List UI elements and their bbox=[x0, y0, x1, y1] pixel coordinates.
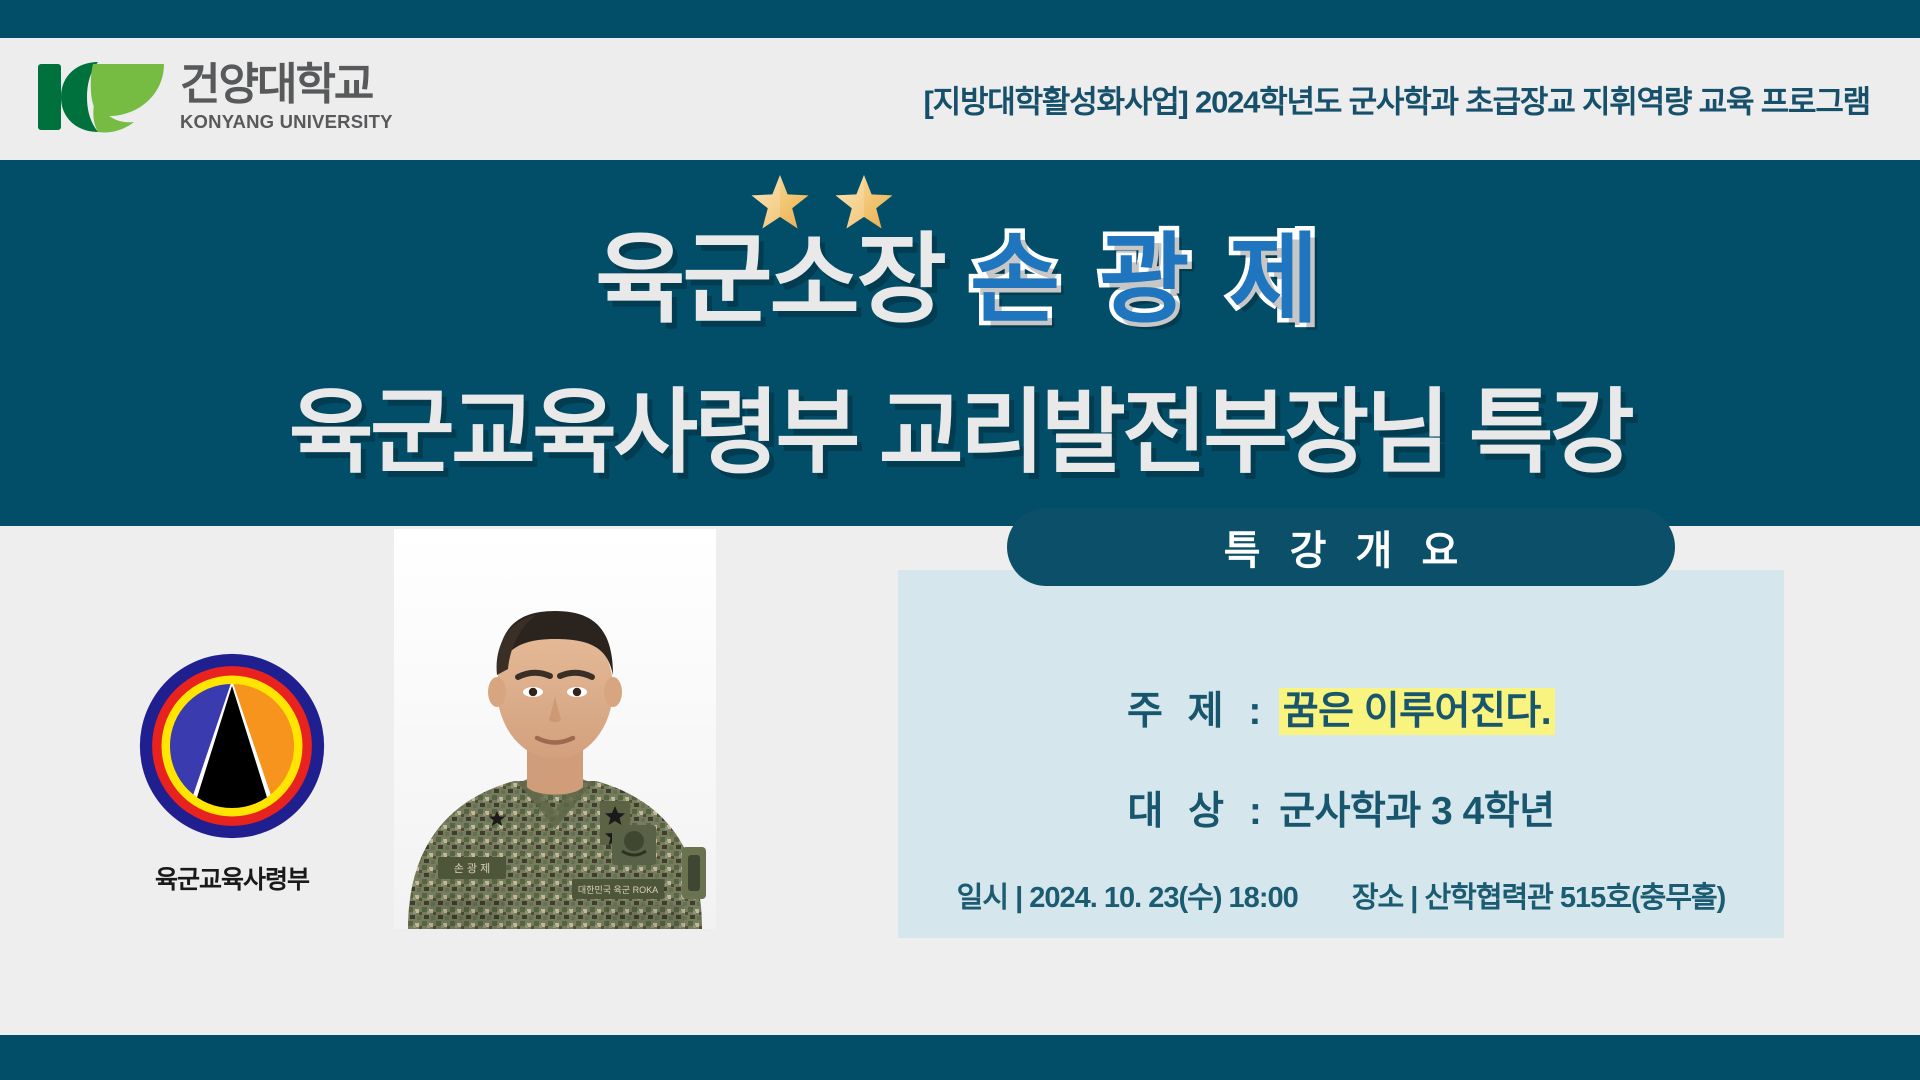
svg-text:손 광 제: 손 광 제 bbox=[454, 862, 490, 875]
info-value-audience: 군사학과 3 4학년 bbox=[1279, 790, 1554, 833]
logo-english-name: KONYANG UNIVERSITY bbox=[180, 113, 393, 132]
date-label: 일시 | bbox=[957, 882, 1023, 914]
poster-header: 건양대학교 KONYANG UNIVERSITY [지방대학활성화사업] 202… bbox=[0, 38, 1920, 160]
banner-title-line-1: 육군소장손 광 제 bbox=[0, 222, 1920, 338]
speaker-rank: 육군소장 bbox=[595, 224, 944, 334]
lecture-overview-label: 특 강 개 요 bbox=[1215, 518, 1468, 576]
poster-body: 육군교육사령부 bbox=[0, 526, 1920, 1035]
info-label-audience: 대 상 : bbox=[1127, 790, 1268, 833]
info-row-audience: 대 상 : 군사학과 3 4학년 bbox=[898, 780, 1784, 836]
army-training-command-emblem bbox=[138, 652, 326, 840]
main-banner: 육군소장손 광 제 육군교육사령부 교리발전부장님 특강 bbox=[0, 160, 1920, 526]
lecture-info-rows: 주 제 : 꿈은 이루어진다. 대 상 : 군사학과 3 4학년 bbox=[898, 680, 1784, 836]
svg-text:대한민국 육군 ROKA: 대한민국 육군 ROKA bbox=[578, 885, 658, 895]
program-title: [지방대학활성화사업] 2024학년도 군사학과 초급장교 지휘역량 교육 프로… bbox=[924, 77, 1870, 122]
info-label-topic: 주 제 : bbox=[1127, 690, 1268, 733]
top-accent-bar bbox=[0, 0, 1920, 38]
logo-korean-name: 건양대학교 bbox=[180, 63, 393, 107]
info-row-topic: 주 제 : 꿈은 이루어진다. bbox=[898, 680, 1784, 736]
poster-root: 건양대학교 KONYANG UNIVERSITY [지방대학활성화사업] 202… bbox=[0, 0, 1920, 1080]
date-value: 2024. 10. 23(수) 18:00 bbox=[1029, 882, 1297, 914]
info-value-topic: 꿈은 이루어진다. bbox=[1279, 688, 1555, 735]
place-label: 장소 | bbox=[1352, 882, 1418, 914]
speaker-name: 손 광 제 bbox=[970, 224, 1325, 334]
lecture-schedule-footer: 일시 | 2024. 10. 23(수) 18:00 장소 | 산학협력관 51… bbox=[898, 874, 1784, 916]
place-value: 산학협력관 515호(충무홀) bbox=[1424, 882, 1725, 914]
ky-monogram-logo bbox=[38, 60, 166, 134]
logo-wordmark: 건양대학교 KONYANG UNIVERSITY bbox=[180, 63, 393, 132]
bottom-accent-bar bbox=[0, 1035, 1920, 1080]
emblem-block: 육군교육사령부 bbox=[112, 652, 352, 896]
university-logo: 건양대학교 KONYANG UNIVERSITY bbox=[38, 60, 393, 134]
banner-subtitle: 육군교육사령부 교리발전부장님 특강 bbox=[0, 358, 1920, 491]
speaker-portrait-photo: 손 광 제 대한민국 육군 ROKA bbox=[394, 529, 716, 929]
emblem-caption: 육군교육사령부 bbox=[112, 860, 352, 896]
lecture-overview-pill: 특 강 개 요 bbox=[1007, 508, 1675, 586]
